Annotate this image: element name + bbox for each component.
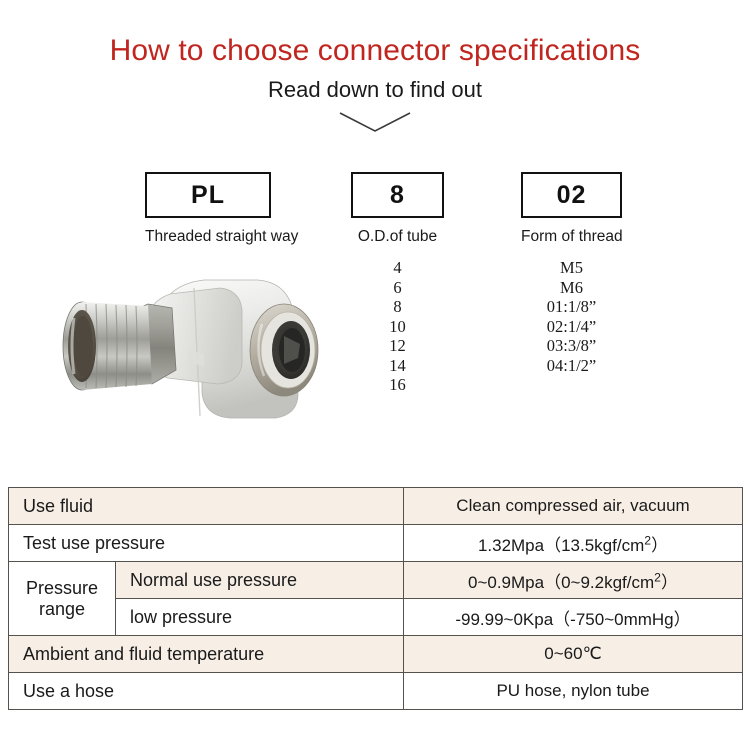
table-row: Use a hose PU hose, nylon tube — [9, 673, 743, 710]
code-breakdown: PL Threaded straight way 8 O.D.of tube 0… — [0, 172, 750, 262]
code-box-series: PL — [145, 172, 271, 218]
product-photo — [52, 266, 362, 446]
table-row: Test use pressure 1.32Mpa（13.5kgf/cm2） — [9, 525, 743, 562]
spec-value-suffix: ） — [661, 573, 678, 592]
spec-value: 0~0.9Mpa（0~9.2kgf/cm2） — [404, 562, 743, 599]
page-header: How to choose connector specifications R… — [0, 34, 750, 137]
option-item: 6 — [351, 278, 444, 298]
code-caption-thread-form: Form of thread — [521, 228, 622, 246]
spec-value: -99.99~0Kpa（-750~0mmHg） — [404, 599, 743, 636]
spec-label: low pressure — [116, 599, 404, 636]
code-group-tube-od: 8 O.D.of tube — [351, 172, 444, 246]
option-item: M6 — [506, 278, 637, 298]
option-item: 02:1/4” — [506, 317, 637, 337]
option-item: 03:3/8” — [506, 336, 637, 356]
page-title: How to choose connector specifications — [0, 34, 750, 69]
option-item: M5 — [506, 258, 637, 278]
code-box-thread-form: 02 — [521, 172, 622, 218]
spec-value-text: 1.32Mpa（13.5kgf/cm — [478, 536, 644, 555]
spec-group-label: Pressure range — [9, 562, 116, 636]
option-item: 14 — [351, 356, 444, 376]
option-item: 4 — [351, 258, 444, 278]
spec-label: Test use pressure — [9, 525, 404, 562]
spec-label: Normal use pressure — [116, 562, 404, 599]
spec-value: PU hose, nylon tube — [404, 673, 743, 710]
option-item: 04:1/2” — [506, 356, 637, 376]
table-row: Pressure range Normal use pressure 0~0.9… — [9, 562, 743, 599]
option-item: 8 — [351, 297, 444, 317]
page-subtitle: Read down to find out — [0, 77, 750, 103]
spec-value: 1.32Mpa（13.5kgf/cm2） — [404, 525, 743, 562]
spec-value-superscript: 2 — [654, 570, 661, 584]
spec-value-suffix: ） — [651, 536, 668, 555]
spec-value: Clean compressed air, vacuum — [404, 488, 743, 525]
spec-label: Use fluid — [9, 488, 404, 525]
spec-label: Use a hose — [9, 673, 404, 710]
option-list-thread-form: M5 M6 01:1/8” 02:1/4” 03:3/8” 04:1/2” — [506, 258, 637, 375]
table-row: Ambient and fluid temperature 0~60℃ — [9, 636, 743, 673]
option-list-tube-od: 4 6 8 10 12 14 16 — [351, 258, 444, 395]
option-item: 12 — [351, 336, 444, 356]
code-box-tube-od: 8 — [351, 172, 444, 218]
code-group-series: PL Threaded straight way — [145, 172, 271, 246]
specifications-table: Use fluid Clean compressed air, vacuum T… — [8, 487, 743, 710]
option-item: 01:1/8” — [506, 297, 637, 317]
table-row: low pressure -99.99~0Kpa（-750~0mmHg） — [9, 599, 743, 636]
spec-value-text: 0~0.9Mpa（0~9.2kgf/cm — [468, 573, 654, 592]
code-group-thread-form: 02 Form of thread — [521, 172, 622, 246]
spec-value: 0~60℃ — [404, 636, 743, 673]
spec-label: Ambient and fluid temperature — [9, 636, 404, 673]
code-caption-series: Threaded straight way — [145, 228, 271, 246]
chevron-down-icon — [336, 109, 414, 137]
table-row: Use fluid Clean compressed air, vacuum — [9, 488, 743, 525]
option-item: 16 — [351, 375, 444, 395]
option-item: 10 — [351, 317, 444, 337]
code-caption-tube-od: O.D.of tube — [351, 228, 444, 246]
